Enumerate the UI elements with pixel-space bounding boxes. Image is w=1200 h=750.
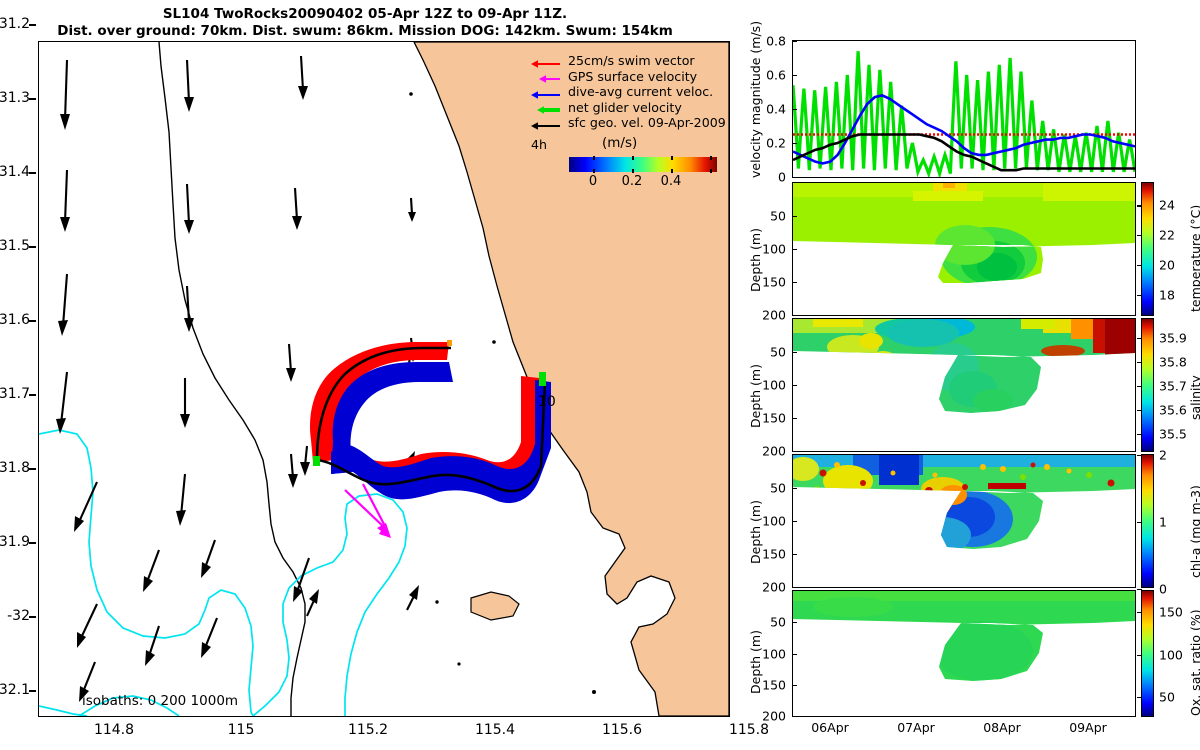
map-y-axis: 31.231.331.431.531.631.731.831.9-3232.1 bbox=[0, 41, 36, 717]
y-tick bbox=[792, 418, 797, 419]
y-tick bbox=[792, 554, 797, 555]
isobath-0-contour bbox=[39, 706, 87, 716]
colorbar-tick bbox=[1137, 338, 1142, 339]
colorbar-tick bbox=[1137, 265, 1142, 266]
colorbar-tick bbox=[1137, 235, 1142, 236]
colorbar-tick bbox=[1137, 410, 1142, 411]
legend-item-label: dive-avg current veloc. bbox=[562, 84, 713, 99]
colorbar-tick bbox=[1137, 655, 1142, 656]
legend-item-label: GPS surface velocity bbox=[562, 69, 697, 84]
y-tick bbox=[792, 716, 797, 717]
map-legend: 25cm/s swim vectorGPS surface velocitydi… bbox=[526, 53, 726, 131]
salinity-section bbox=[793, 319, 1135, 451]
colorbar-tick bbox=[1137, 295, 1142, 296]
legend-item-1: GPS surface velocity bbox=[526, 69, 726, 85]
legend-item-0: 25cm/s swim vector bbox=[526, 53, 726, 69]
time-tick-label: 09Apr bbox=[1069, 720, 1107, 735]
y-tick-label: 200 bbox=[752, 709, 786, 724]
colorbar-tick bbox=[1137, 612, 1142, 613]
legend-item-3: net glider velocity bbox=[526, 100, 726, 116]
y-tick-label: 100 bbox=[752, 242, 786, 257]
oxygen-field bbox=[793, 591, 1135, 716]
y-tick-label: 50 bbox=[752, 345, 786, 360]
y-tick-label: 150 bbox=[752, 677, 786, 692]
y-tick bbox=[792, 488, 797, 489]
map-x-tick-label: 115.4 bbox=[475, 722, 515, 738]
time-tick-label: 08Apr bbox=[983, 720, 1021, 735]
island-polygon bbox=[471, 592, 519, 620]
colorbar-tick bbox=[1137, 434, 1142, 435]
figure-title: SL104 TwoRocks20090402 05-Apr 12Z to 09-… bbox=[0, 6, 730, 40]
y-tick bbox=[792, 352, 797, 353]
legend-cbar-tick: 0.4 bbox=[661, 174, 682, 189]
y-tick bbox=[792, 41, 797, 42]
colorbar-tick-label: 50 bbox=[1159, 689, 1175, 704]
map-y-tick-label: -32 bbox=[7, 608, 30, 624]
y-tick bbox=[792, 216, 797, 217]
y-tick bbox=[792, 143, 797, 144]
velocity-chart bbox=[793, 41, 1135, 177]
map-y-tick bbox=[29, 468, 36, 470]
oxygen-colorbar: 50100150 bbox=[1141, 590, 1154, 717]
colorbar-tick bbox=[1137, 522, 1142, 523]
salinity-field bbox=[793, 319, 1135, 451]
y-tick-label: 0.4 bbox=[752, 102, 786, 117]
track-start-marker bbox=[447, 340, 452, 346]
colorbar-tick-label: 35.7 bbox=[1159, 379, 1187, 394]
map-x-tick-label: 115 bbox=[228, 722, 255, 738]
colorbar-tick-label: 100 bbox=[1159, 647, 1183, 662]
map-frame: 25cm/s swim vectorGPS surface velocitydi… bbox=[38, 41, 730, 717]
y-tick-label: 100 bbox=[752, 646, 786, 661]
oxygen-panel[interactable]: Depth (m) 50100150200 06Apr07Apr08Apr09A… bbox=[792, 590, 1136, 717]
y-tick-label: 0.6 bbox=[752, 68, 786, 83]
isobath-legend-note: isobaths: 0 200 1000m bbox=[82, 693, 238, 709]
legend-cbar-tick: 0 bbox=[589, 174, 597, 189]
velocity-frame bbox=[792, 40, 1136, 178]
y-tick bbox=[792, 587, 797, 588]
chla-panel[interactable]: Depth (m) 50100150200 bbox=[792, 454, 1136, 588]
map-panel[interactable]: 25cm/s swim vectorGPS surface velocitydi… bbox=[38, 41, 730, 717]
map-y-tick bbox=[29, 616, 36, 618]
chla-section bbox=[793, 455, 1135, 587]
map-y-tick bbox=[29, 690, 36, 692]
salinity-panel[interactable]: Depth (m) 50100150200 bbox=[792, 318, 1136, 452]
land-polygon bbox=[414, 42, 729, 716]
map-x-tick-label: 114.8 bbox=[94, 722, 134, 738]
title-line-2: Dist. over ground: 70km. Dist. swum: 86k… bbox=[0, 23, 730, 40]
colorbar-tick-label: 20 bbox=[1159, 257, 1175, 272]
y-tick bbox=[792, 385, 797, 386]
title-line-1: SL104 TwoRocks20090402 05-Apr 12Z to 09-… bbox=[0, 6, 730, 23]
y-tick-label: 100 bbox=[752, 514, 786, 529]
y-tick-label: 50 bbox=[752, 481, 786, 496]
y-tick-label: 50 bbox=[752, 209, 786, 224]
legend-arrow-icon bbox=[526, 101, 562, 113]
legend-item-label: 25cm/s swim vector bbox=[562, 53, 695, 68]
map-y-tick bbox=[29, 246, 36, 248]
y-tick-label: 0.8 bbox=[752, 34, 786, 49]
chla-frame bbox=[792, 454, 1136, 588]
temperature-panel[interactable]: Depth (m) 50100150200 bbox=[792, 182, 1136, 316]
colorbar-tick bbox=[1137, 386, 1142, 387]
map-y-tick bbox=[29, 394, 36, 396]
legend-units: (m/s) bbox=[602, 135, 637, 151]
map-y-tick bbox=[29, 320, 36, 322]
colorbar-tick-label: 24 bbox=[1159, 198, 1175, 213]
colorbar-tick-label: 18 bbox=[1159, 287, 1175, 302]
velocity-panel[interactable]: velocity magnitude (m/s) 00.20.40.60.8 bbox=[792, 40, 1136, 178]
y-tick-label: 200 bbox=[752, 444, 786, 459]
y-tick bbox=[792, 177, 797, 178]
legend-arrow-icon bbox=[526, 70, 562, 82]
colorbar-tick-label: 35.5 bbox=[1159, 426, 1187, 441]
map-y-tick bbox=[29, 542, 36, 544]
figure-root: SL104 TwoRocks20090402 05-Apr 12Z to 09-… bbox=[0, 0, 1200, 750]
y-tick-label: 150 bbox=[752, 275, 786, 290]
legend-arrow-icon bbox=[526, 55, 562, 67]
colorbar-tick-label: 22 bbox=[1159, 228, 1175, 243]
colorbar-tick-label: 35.6 bbox=[1159, 402, 1187, 417]
colorbar-tick-label: 1 bbox=[1159, 515, 1167, 530]
colorbar-tick bbox=[1137, 362, 1142, 363]
chla-field bbox=[793, 455, 1135, 587]
y-tick-label: 0.2 bbox=[752, 136, 786, 151]
isobath-depth-label: 10 bbox=[538, 394, 556, 410]
map-y-tick-label: 31.2 bbox=[0, 16, 30, 32]
y-tick bbox=[792, 521, 797, 522]
isobath-1000-contour-west bbox=[39, 430, 253, 716]
temperature-colorbar: 18202224 bbox=[1141, 182, 1154, 316]
legend-rows: 25cm/s swim vectorGPS surface velocitydi… bbox=[526, 53, 726, 131]
salinity-frame bbox=[792, 318, 1136, 452]
legend-colorbar bbox=[569, 157, 717, 172]
y-tick-label: 100 bbox=[752, 378, 786, 393]
map-y-tick-label: 31.4 bbox=[0, 164, 30, 180]
legend-scale-note: 4h bbox=[531, 137, 547, 152]
y-tick bbox=[792, 654, 797, 655]
map-y-tick-label: 31.3 bbox=[0, 90, 30, 106]
legend-colorbar-ticks: 00.20.4 bbox=[569, 174, 717, 192]
y-tick bbox=[792, 109, 797, 110]
map-y-tick-label: 32.1 bbox=[0, 682, 30, 698]
colorbar-tick bbox=[1137, 205, 1142, 206]
temperature-field bbox=[793, 183, 1135, 315]
map-x-tick-label: 115.6 bbox=[602, 722, 642, 738]
temperature-colorbar-title: temperature (°C) bbox=[1188, 205, 1200, 312]
y-tick bbox=[792, 622, 797, 623]
map-y-tick-label: 31.5 bbox=[0, 238, 30, 254]
map-y-tick bbox=[29, 98, 36, 100]
map-y-tick bbox=[29, 172, 36, 174]
map-y-tick-label: 31.7 bbox=[0, 386, 30, 402]
map-y-tick-label: 31.9 bbox=[0, 534, 30, 550]
colorbar-tick-label: 0 bbox=[1159, 582, 1167, 597]
time-tick-label: 07Apr bbox=[897, 720, 935, 735]
colorbar-tick bbox=[1137, 455, 1142, 456]
legend-item-4: sfc geo. vel. 09-Apr-2009 bbox=[526, 115, 726, 131]
y-tick-label: 150 bbox=[752, 547, 786, 562]
y-tick bbox=[792, 282, 797, 283]
y-tick-label: 200 bbox=[752, 580, 786, 595]
y-tick bbox=[792, 249, 797, 250]
y-tick bbox=[792, 685, 797, 686]
y-tick-label: 50 bbox=[752, 615, 786, 630]
legend-item-label: net glider velocity bbox=[562, 100, 682, 115]
y-tick bbox=[792, 451, 797, 452]
y-tick-label: 150 bbox=[752, 411, 786, 426]
chla-colorbar: 012 bbox=[1141, 454, 1154, 588]
colorbar-tick-label: 35.9 bbox=[1159, 331, 1187, 346]
legend-item-label: sfc geo. vel. 09-Apr-2009 bbox=[562, 115, 726, 130]
map-y-tick-label: 31.8 bbox=[0, 460, 30, 476]
colorbar-tick-label: 35.8 bbox=[1159, 355, 1187, 370]
y-tick-label: 0 bbox=[752, 170, 786, 185]
legend-item-2: dive-avg current veloc. bbox=[526, 84, 726, 100]
time-tick-label: 06Apr bbox=[811, 720, 849, 735]
map-x-tick-label: 115.2 bbox=[348, 722, 388, 738]
legend-arrow-icon bbox=[526, 117, 562, 129]
right-column: velocity magnitude (m/s) 00.20.40.60.8 bbox=[736, 0, 1200, 750]
map-y-tick bbox=[29, 24, 36, 26]
salinity-colorbar-title: salinity bbox=[1188, 375, 1200, 420]
y-tick bbox=[792, 75, 797, 76]
y-tick-label: 200 bbox=[752, 308, 786, 323]
y-tick bbox=[792, 315, 797, 316]
salinity-colorbar: 35.535.635.735.835.9 bbox=[1141, 318, 1154, 452]
colorbar-tick-label: 2 bbox=[1159, 448, 1167, 463]
legend-arrow-icon bbox=[526, 86, 562, 98]
legend-cbar-tick: 0.2 bbox=[622, 174, 643, 189]
oxygen-section bbox=[793, 591, 1135, 716]
colorbar-tick-label: 150 bbox=[1159, 605, 1183, 620]
map-y-tick-label: 31.6 bbox=[0, 312, 30, 328]
temperature-section bbox=[793, 183, 1135, 315]
colorbar-tick bbox=[1137, 697, 1142, 698]
map-x-axis: 114.8115115.2115.4115.6115.8 bbox=[38, 718, 730, 748]
oxygen-frame bbox=[792, 590, 1136, 717]
temperature-frame bbox=[792, 182, 1136, 316]
